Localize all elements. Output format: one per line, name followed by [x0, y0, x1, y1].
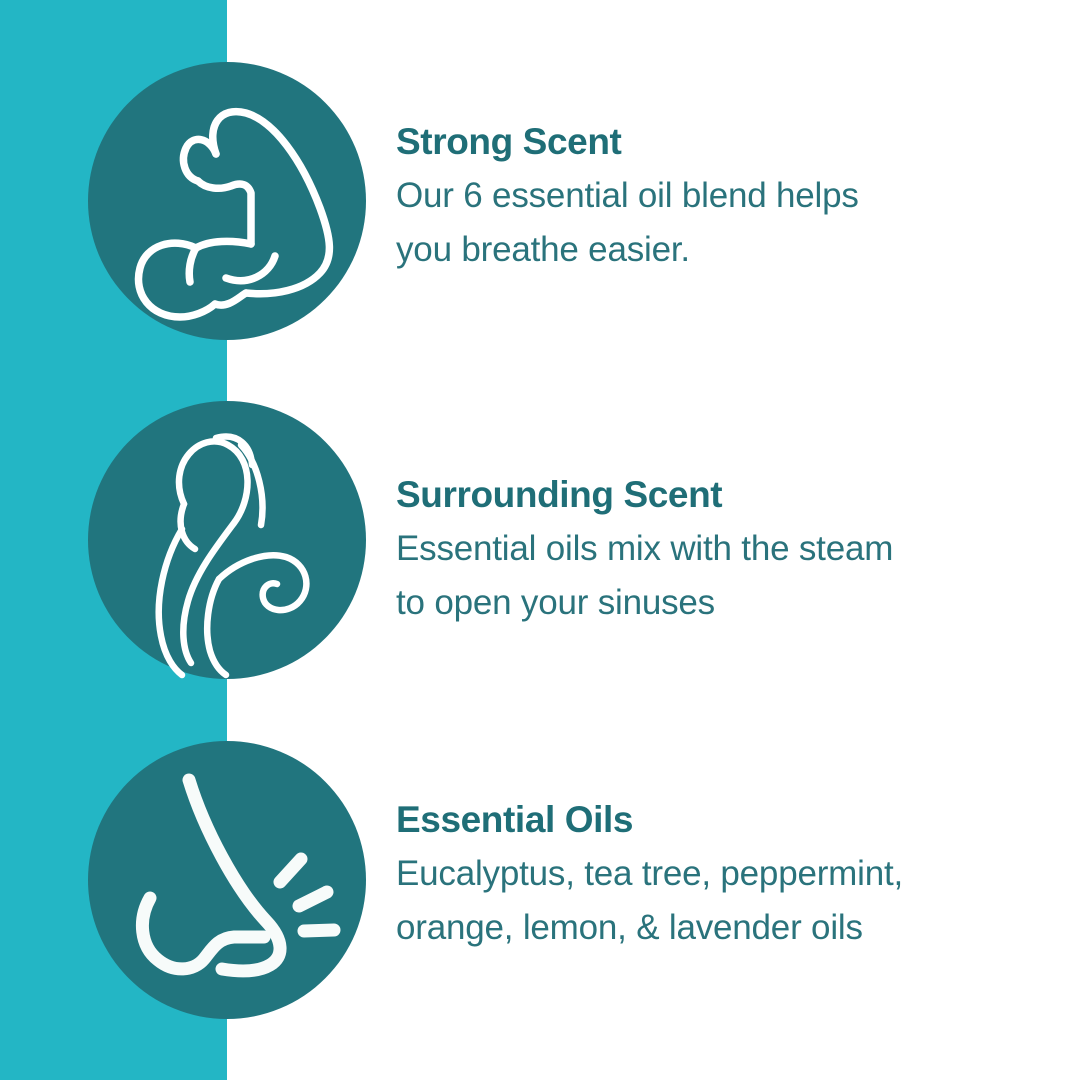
feature-icon-badge: [88, 741, 366, 1019]
feature-description: Eucalyptus, tea tree, peppermint, orange…: [396, 847, 1036, 954]
feature-text-block: Essential Oils Eucalyptus, tea tree, pep…: [396, 801, 1036, 954]
feature-description: Our 6 essential oil blend helps you brea…: [396, 169, 1036, 276]
feature-title: Strong Scent: [396, 123, 1036, 160]
feature-icon-badge: [88, 62, 366, 340]
flexed-bicep-icon: [88, 62, 366, 340]
feature-text-block: Strong Scent Our 6 essential oil blend h…: [396, 123, 1036, 276]
infographic-canvas: Strong Scent Our 6 essential oil blend h…: [0, 0, 1080, 1080]
nose-smell-icon: [88, 741, 366, 1019]
feature-description-line: orange, lemon, & lavender oils: [396, 901, 1036, 955]
feature-description-line: you breathe easier.: [396, 223, 1036, 277]
feature-description-line: Our 6 essential oil blend helps: [396, 169, 1036, 223]
feature-description-line: to open your sinuses: [396, 576, 1036, 630]
feature-description-line: Eucalyptus, tea tree, peppermint,: [396, 847, 1036, 901]
feature-title: Essential Oils: [396, 801, 1036, 838]
feature-text-block: Surrounding Scent Essential oils mix wit…: [396, 476, 1036, 629]
feature-icon-badge: [88, 401, 366, 679]
steam-swirl-icon: [88, 401, 366, 679]
feature-title: Surrounding Scent: [396, 476, 1036, 513]
feature-description: Essential oils mix with the steam to ope…: [396, 522, 1036, 629]
feature-description-line: Essential oils mix with the steam: [396, 522, 1036, 576]
